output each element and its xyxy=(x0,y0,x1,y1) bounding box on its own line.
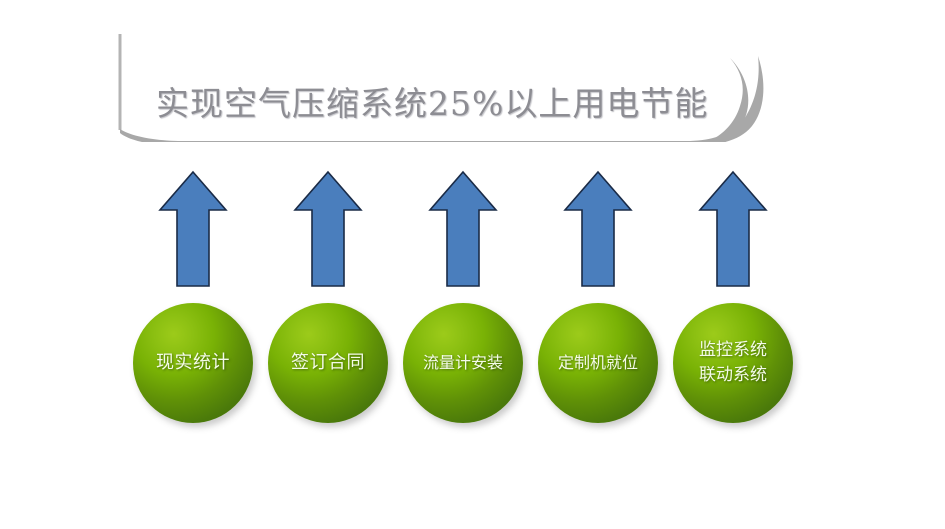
title-banner: 实现空气压缩系统25%以上用电节能 xyxy=(118,34,778,142)
process-node-label: 现实统计 xyxy=(152,351,234,375)
arrow-shape xyxy=(295,172,361,286)
slide-canvas: 实现空气压缩系统25%以上用电节能 现实统计 签订合同 流量计安装 定制机就位 … xyxy=(0,0,945,529)
process-node-1[interactable]: 现实统计 xyxy=(133,303,253,423)
page-title: 实现空气压缩系统25%以上用电节能 xyxy=(156,78,746,130)
arrow-up-icon xyxy=(698,170,768,288)
process-node-5[interactable]: 监控系统 联动系统 xyxy=(673,303,793,423)
process-node-4[interactable]: 定制机就位 xyxy=(538,303,658,423)
arrow-shape xyxy=(430,172,496,286)
process-node-label: 定制机就位 xyxy=(554,351,642,375)
process-node-3[interactable]: 流量计安装 xyxy=(403,303,523,423)
arrow-up-icon xyxy=(428,170,498,288)
arrow-shape xyxy=(160,172,226,286)
process-node-2[interactable]: 签订合同 xyxy=(268,303,388,423)
arrow-shape xyxy=(565,172,631,286)
process-node-label: 流量计安装 xyxy=(419,351,507,375)
arrow-up-icon xyxy=(293,170,363,288)
arrow-shape xyxy=(700,172,766,286)
arrow-up-icon xyxy=(563,170,633,288)
process-node-label: 签订合同 xyxy=(287,351,369,375)
process-node-label: 监控系统 联动系统 xyxy=(695,338,771,388)
arrow-up-icon xyxy=(158,170,228,288)
